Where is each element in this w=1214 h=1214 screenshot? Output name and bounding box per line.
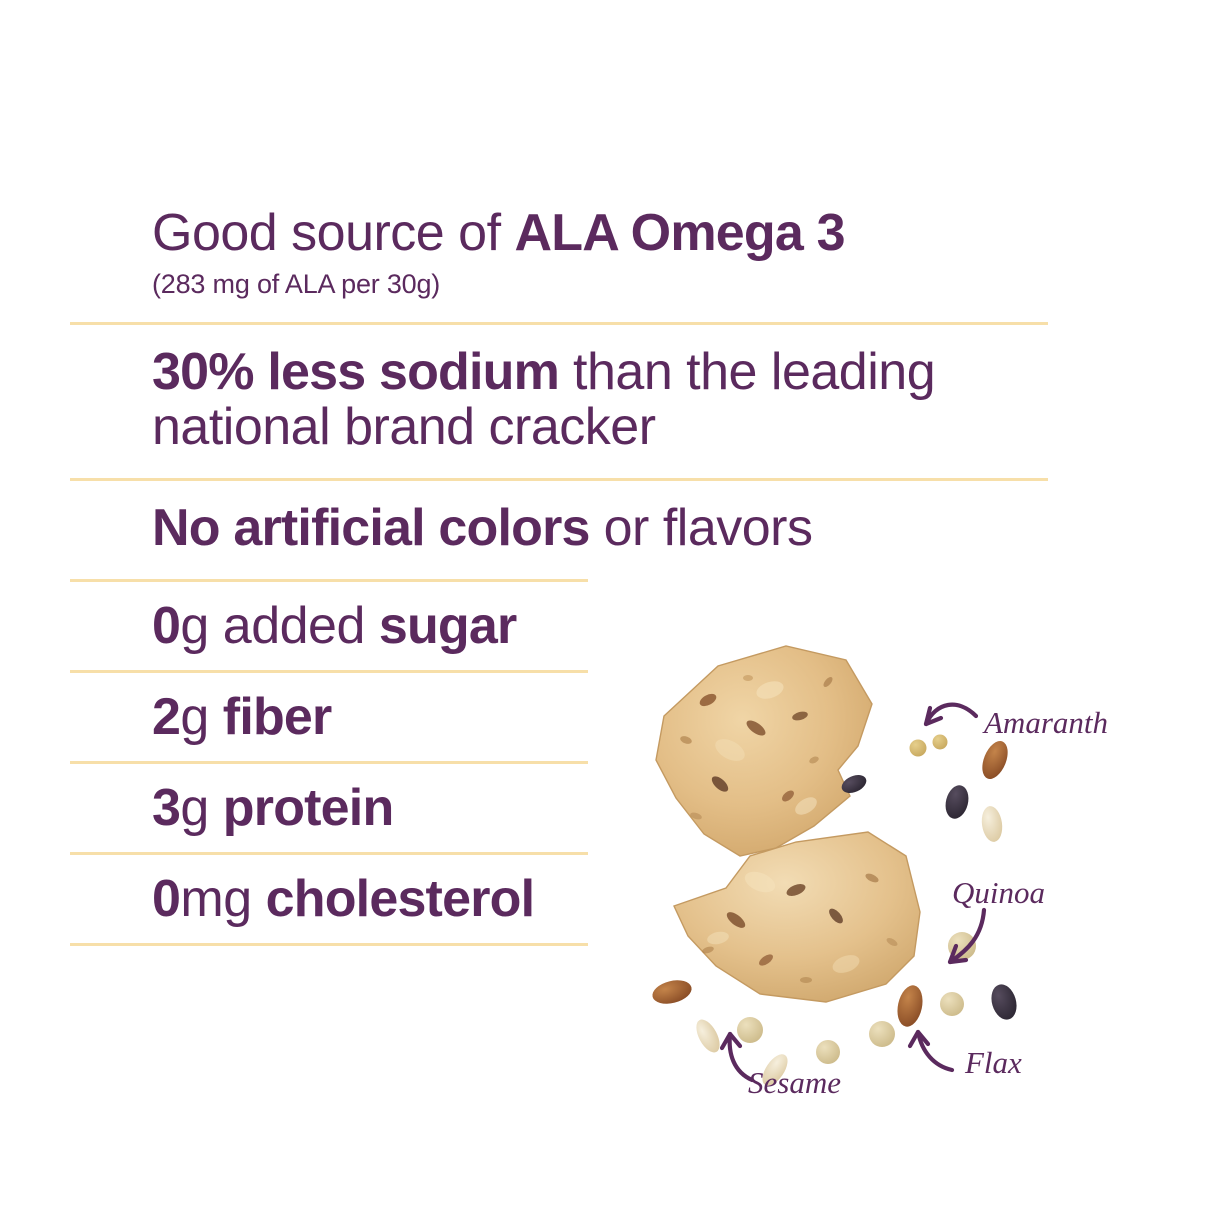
quinoa-seed <box>940 992 964 1016</box>
nutrition-name: fiber <box>223 688 332 746</box>
cracker-piece-upper <box>656 646 872 856</box>
spacer <box>70 557 1050 579</box>
quinoa-seed <box>869 1021 895 1047</box>
claim-highlight: 30% less sodium <box>152 343 559 401</box>
nutrition-text-protein: 3g protein <box>152 778 393 838</box>
sesame-seed <box>980 805 1005 843</box>
claim-trail: or flavors <box>590 499 813 557</box>
claim-no-artificial-colors: No artificial colors or flavors <box>70 501 1050 557</box>
claim-ala-subtitle: (283 mg of ALA per 30g) <box>70 269 1050 300</box>
amaranth-seed <box>910 740 927 757</box>
claim-highlight: ALA Omega 3 <box>515 204 845 262</box>
spacer <box>70 456 1050 478</box>
infographic-canvas: Good source of ALA Omega 3 (283 mg of AL… <box>0 0 1214 1214</box>
nutrition-text-cholesterol: 0mg cholesterol <box>152 869 534 929</box>
nutrition-text-added-sugar: 0g added sugar <box>152 596 516 656</box>
claim-less-sodium-text: 30% less sodium than the leading nationa… <box>70 345 1050 456</box>
cracker-illustration <box>600 620 1214 1140</box>
spacer <box>70 325 1050 345</box>
flax-seed <box>650 976 694 1007</box>
sesame-seed <box>692 1016 725 1056</box>
black-sesame-seed <box>942 783 972 821</box>
spacer <box>70 300 1050 322</box>
nutrition-unit: mg <box>180 870 251 928</box>
seed-cluster-upper-right <box>839 735 1013 844</box>
cracker-piece-lower <box>674 832 920 1002</box>
flax-seed <box>977 737 1012 782</box>
claim-ala-omega-3-text: Good source of ALA Omega 3 <box>70 206 1050 262</box>
claim-less-sodium: 30% less sodium than the leading nationa… <box>70 345 1050 456</box>
nutrition-number: 0 <box>152 870 180 928</box>
spacer <box>70 481 1050 501</box>
flax-seed <box>894 983 926 1029</box>
claim-ala-omega-3: Good source of ALA Omega 3 (283 mg of AL… <box>70 206 1050 300</box>
nutrition-unit: g <box>180 779 208 837</box>
amaranth-seed <box>933 735 948 750</box>
nutrition-lead-name: added <box>223 597 379 655</box>
quinoa-seed <box>816 1040 840 1064</box>
seed-label-quinoa: Quinoa <box>952 875 1045 911</box>
nutrition-number: 3 <box>152 779 180 837</box>
product-photo-crackers: Amaranth Quinoa Sesame Flax <box>600 620 1214 1140</box>
nutrition-unit: g <box>180 688 208 746</box>
nutrition-name: sugar <box>379 597 517 655</box>
nutrition-number: 2 <box>152 688 180 746</box>
claim-no-artificial-colors-text: No artificial colors or flavors <box>70 501 1050 557</box>
seed-label-flax: Flax <box>965 1045 1022 1081</box>
nutrition-text-fiber: 2g fiber <box>152 687 331 747</box>
black-sesame-seed <box>988 981 1021 1022</box>
claim-lead: Good source of <box>152 204 515 262</box>
seed-label-sesame: Sesame <box>748 1065 841 1101</box>
quinoa-seed <box>737 1017 763 1043</box>
claim-highlight: No artificial colors <box>152 499 590 557</box>
nutrition-unit: g <box>180 597 208 655</box>
nutrition-name: cholesterol <box>266 870 535 928</box>
seed-label-amaranth: Amaranth <box>984 705 1108 741</box>
nutrition-name: protein <box>223 779 394 837</box>
divider-7 <box>70 943 588 946</box>
nutrition-number: 0 <box>152 597 180 655</box>
